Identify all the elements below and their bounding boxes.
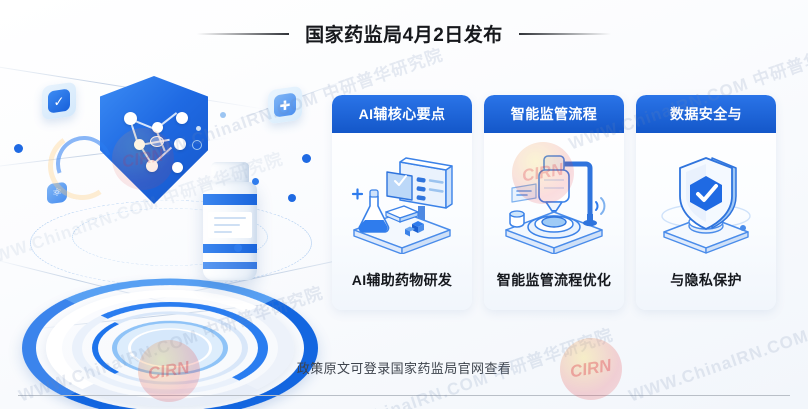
accent-dot-6	[196, 126, 201, 131]
float-card-left: ✓	[42, 82, 76, 121]
feature-card-smart-supervision[interactable]: 智能监管流程	[484, 95, 624, 310]
platform-rings	[20, 192, 320, 342]
molecule-network-icon	[100, 76, 208, 204]
lab-flask-monitor-icon	[332, 133, 472, 270]
accent-dot-3	[288, 194, 296, 202]
card-caption: AI辅助药物研发	[352, 270, 452, 310]
feature-card-ai-rd[interactable]: AI辅核心要点	[332, 95, 472, 310]
hero-illustration: ✓ ✚ ⚛	[20, 62, 330, 352]
card-caption: 与隐私保护	[670, 270, 742, 310]
page-title: 国家药监局4月2日发布	[0, 20, 808, 47]
title-rule-left-icon	[197, 33, 289, 35]
footer-divider	[18, 395, 790, 396]
medicine-bottle-icon	[202, 162, 258, 280]
infographic-root: 国家药监局4月2日发布	[0, 0, 808, 409]
feature-card-list: AI辅核心要点	[332, 95, 776, 310]
medical-cross-badge-icon: ✚	[274, 92, 296, 117]
accent-dot-2	[302, 154, 311, 163]
title-rule-right-icon	[519, 33, 611, 35]
accent-dot-4	[252, 178, 259, 185]
accent-dot-7	[234, 244, 242, 252]
accent-dot-5	[220, 112, 226, 118]
card-header-label: AI辅核心要点	[332, 95, 472, 133]
page-title-text: 国家药监局4月2日发布	[305, 20, 503, 47]
card-header-label: 智能监管流程	[484, 95, 624, 133]
shield-check-pedestal-icon	[636, 133, 776, 270]
feature-card-data-security[interactable]: 数据安全与	[636, 95, 776, 310]
accent-dot-1	[14, 144, 23, 153]
card-header-label: 数据安全与	[636, 95, 776, 133]
shield-check-badge-icon: ✓	[48, 88, 70, 113]
card-caption: 智能监管流程优化	[497, 270, 611, 310]
automated-dispenser-icon	[484, 133, 624, 270]
accent-dot-ring	[192, 140, 202, 150]
float-card-right: ✚	[268, 86, 302, 125]
footer-note: 政策原文可登录国家药监局官网查看	[0, 358, 808, 377]
